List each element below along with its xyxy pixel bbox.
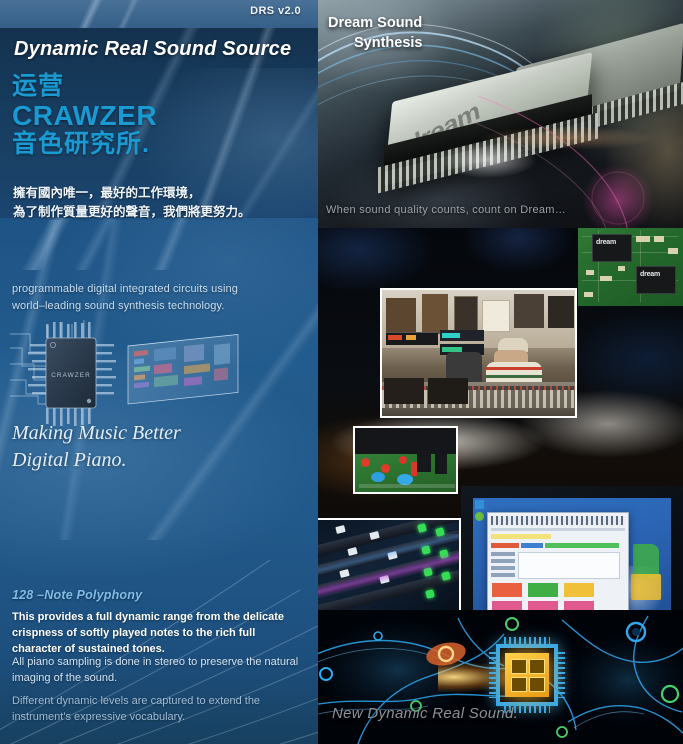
polyphony-heading: 128 –Note Polyphony <box>12 588 142 602</box>
footer-caption: New Dynamic Real Sound. <box>332 705 518 722</box>
hero-title: Dream Sound Synthesis <box>328 14 423 53</box>
left-panel: DRS v2.0 Dynamic Real Sound Source 运营 CR… <box>0 0 318 744</box>
brochure-page: DRS v2.0 Dynamic Real Sound Source 运营 CR… <box>0 0 683 744</box>
chip-illustration: CRAWZER <box>8 318 258 430</box>
glowing-chip-graphic <box>496 644 558 706</box>
tech-copy: programmable digital integrated circuits… <box>12 281 238 314</box>
version-strip: DRS v2.0 <box>0 0 318 28</box>
version-badge: DRS v2.0 <box>250 5 301 17</box>
right-panel: Dream Sound Synthesis When sound quality… <box>318 0 683 744</box>
brand-block: 运营 CRAWZER 音色研究所. <box>12 74 157 157</box>
brand-name: CRAWZER <box>12 102 157 130</box>
monitor-screen <box>473 498 671 610</box>
hero-title-line2: Synthesis <box>328 34 423 54</box>
paragraph-1: This provides a full dynamic range from … <box>12 610 304 658</box>
photo-mixing-console <box>318 518 461 610</box>
paragraph-2: All piano sampling is done in stereo to … <box>12 655 304 687</box>
console-light-beam <box>318 534 461 604</box>
brand-cn-bottom: 音色研究所. <box>12 132 157 157</box>
subtitle-chinese: 擁有國內唯一，最好的工作環境， 為了制作質量更好的聲音，我們將更努力。 <box>13 184 251 223</box>
chip-label: CRAWZER <box>51 372 91 379</box>
photo-recording-studio <box>380 288 577 418</box>
photo-pcb-macro <box>353 426 458 494</box>
brand-cn-top: 运营 <box>12 74 157 99</box>
photo-pcb-board <box>578 228 683 306</box>
page-title: Dynamic Real Sound Source <box>14 38 291 61</box>
paragraph-3: Different dynamic levels are captured to… <box>12 694 304 726</box>
neural-network-footer: New Dynamic Real Sound. <box>318 610 683 744</box>
tagline: Making Music Better Digital Piano. <box>12 420 181 474</box>
monitor-app-window <box>487 512 629 610</box>
hero-title-line1: Dream Sound <box>328 15 422 31</box>
hero-image-dream-chip: Dream Sound Synthesis When sound quality… <box>318 0 683 228</box>
photo-collage <box>318 228 683 610</box>
hero-caption: When sound quality counts, count on Drea… <box>326 204 566 216</box>
pcb-chip-2 <box>636 266 676 294</box>
pcb-chip-1 <box>592 234 632 262</box>
photo-computer-monitor <box>461 486 683 610</box>
